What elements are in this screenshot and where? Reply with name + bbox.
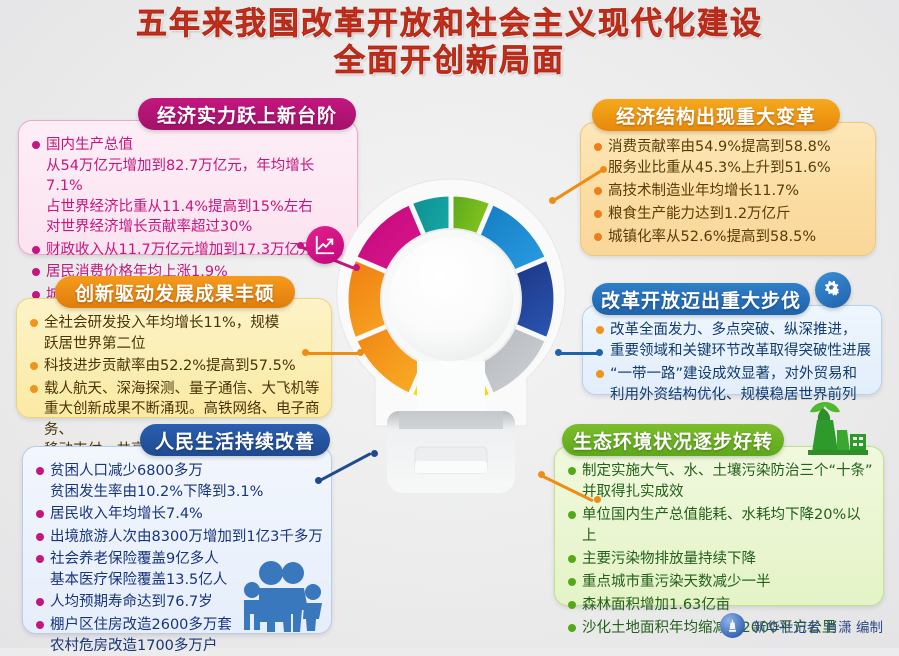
panel-heading-economic-structure: 经济结构出现重大变革 bbox=[592, 99, 840, 131]
list-item: 国内生产总值 从54万亿元增加到82.7万亿元，年均增长7.1% 占世界经济比重… bbox=[31, 135, 347, 238]
panel-body-reform: 改革全面发力、多点突破、纵深推进， 重要领域和关键环节改革取得突破性进展 “一带… bbox=[582, 305, 882, 395]
line: 跃居世界第二位 bbox=[44, 334, 323, 355]
panel-heading-economic-strength: 经济实力跃上新台阶 bbox=[138, 98, 356, 130]
line: 从54万亿元增加到82.7万亿元，年均增长7.1% bbox=[46, 156, 347, 197]
line: 主要污染物排放量持续下降 bbox=[582, 549, 875, 570]
line-chart-icon bbox=[306, 226, 344, 264]
line: 改革全面发力、多点突破、纵深推进， bbox=[610, 320, 873, 341]
line: 服务业比重从45.3%上升到51.6% bbox=[608, 158, 867, 179]
list-item: 粮食生产能力达到1.2万亿斤 bbox=[593, 204, 867, 225]
connector-dot-box4-a bbox=[549, 197, 556, 204]
list-item: 消费贡献率由54.9%提高到58.8% 服务业比重从45.3%上升到51.6% bbox=[593, 137, 867, 179]
family-icon bbox=[230, 558, 326, 636]
list-item: 重点城市重污染天数减少一半 bbox=[567, 572, 875, 593]
connector-dot-box5-b bbox=[596, 349, 603, 356]
panel-heading-livelihood: 人民生活持续改善 bbox=[140, 424, 330, 456]
line: 居民收入年均增长7.4% bbox=[50, 504, 323, 525]
list-item: 居民收入年均增长7.4% bbox=[35, 504, 323, 525]
line: 贫困人口减少6800多万 bbox=[50, 461, 323, 482]
list-item: 高技术制造业年均增长11.7% bbox=[593, 181, 867, 202]
connector-dot-box3-a bbox=[315, 477, 322, 484]
connector-dot-box1-b bbox=[353, 264, 360, 271]
page-title: 五年来我国改革开放和社会主义现代化建设 全面开创新局面 bbox=[0, 6, 899, 79]
line: 贫困发生率由10.2%下降到3.1% bbox=[50, 482, 323, 503]
panel-list-economic-structure: 消费贡献率由54.9%提高到58.8% 服务业比重从45.3%上升到51.6% … bbox=[593, 137, 867, 248]
list-item: 全社会研发投入年均增长11%，规模 跃居世界第二位 bbox=[29, 313, 323, 354]
gears-icon bbox=[815, 272, 851, 308]
title-line-2: 全面开创新局面 bbox=[0, 43, 899, 80]
line: 占世界经济比重从11.4%提高到15%左右 bbox=[46, 197, 347, 218]
panel-body-economic-structure: 消费贡献率由54.9%提高到58.8% 服务业比重从45.3%上升到51.6% … bbox=[580, 122, 876, 256]
line: 城镇化率从52.6%提高到58.5% bbox=[608, 227, 867, 248]
line: 重要领域和关键环节改革取得突破性进展 bbox=[610, 341, 873, 362]
panel-body-ecology: 制定实施大气、水、土壤污染防治三个“十条” 并取得扎实成效 单位国内生产总值能耗… bbox=[554, 446, 884, 606]
connector-dot-box3-b bbox=[371, 450, 378, 457]
connector-line-box2 bbox=[305, 352, 361, 355]
panel-heading-innovation: 创新驱动发展成果丰硕 bbox=[55, 276, 295, 308]
connector-dot-box6-a bbox=[538, 471, 545, 478]
line: 粮食生产能力达到1.2万亿斤 bbox=[608, 204, 867, 225]
line: 载人航天、深海探测、量子通信、大飞机等 bbox=[44, 379, 323, 400]
list-item: 城镇化率从52.6%提高到58.5% bbox=[593, 227, 867, 248]
panel-heading-reform: 改革开放迈出重大步伐 bbox=[592, 283, 810, 315]
line: 单位国内生产总值能耗、水耗均下降20%以上 bbox=[582, 505, 875, 547]
panel-body-innovation: 全社会研发投入年均增长11%，规模 跃居世界第二位 科技进步贡献率由52.2%提… bbox=[16, 298, 332, 418]
line: 高技术制造业年均增长11.7% bbox=[608, 181, 867, 202]
list-item: 制定实施大气、水、土壤污染防治三个“十条” 并取得扎实成效 bbox=[567, 461, 875, 503]
connector-dot-box5-a bbox=[555, 349, 562, 356]
line: 重点城市重污染天数减少一半 bbox=[582, 572, 875, 593]
eco-factory-icon bbox=[790, 398, 868, 462]
xinhua-logo bbox=[720, 613, 745, 638]
infographic-canvas: 五年来我国改革开放和社会主义现代化建设 全面开创新局面 bbox=[0, 0, 899, 648]
line: 出境旅游人次由8300万增加到1亿3千多万 bbox=[50, 527, 323, 548]
connector-dot-box4-b bbox=[600, 166, 607, 173]
line: 农村危房改造1700多万户 bbox=[50, 636, 323, 656]
line: “一带一路”建设成效显著，对外贸易和 bbox=[610, 364, 873, 385]
list-item: 单位国内生产总值能耗、水耗均下降20%以上 bbox=[567, 505, 875, 547]
title-line-1: 五年来我国改革开放和社会主义现代化建设 bbox=[0, 6, 899, 43]
line: 并取得扎实成效 bbox=[582, 482, 875, 503]
list-item: 出境旅游人次由8300万增加到1亿3千多万 bbox=[35, 527, 323, 548]
credit-text: 新华社记者 肖潇 编制 bbox=[753, 616, 883, 636]
line: 国内生产总值 bbox=[46, 135, 347, 156]
list-item: 贫困人口减少6800多万 贫困发生率由10.2%下降到3.1% bbox=[35, 461, 323, 502]
connector-line-box5 bbox=[558, 352, 600, 355]
list-item: 改革全面发力、多点突破、纵深推进， 重要领域和关键环节改革取得突破性进展 bbox=[595, 320, 873, 362]
connector-dot-box2-a bbox=[302, 349, 309, 356]
panel-heading-ecology: 生态环境状况逐步好转 bbox=[562, 424, 784, 456]
line: 制定实施大气、水、土壤污染防治三个“十条” bbox=[582, 461, 875, 482]
line: 科技进步贡献率由52.2%提高到57.5% bbox=[44, 356, 323, 377]
connector-dot-box2-b bbox=[357, 349, 364, 356]
connector-dot-box6-b bbox=[594, 496, 601, 503]
line: 消费贡献率由54.9%提高到58.8% bbox=[608, 137, 867, 158]
list-item: 科技进步贡献率由52.2%提高到57.5% bbox=[29, 356, 323, 377]
line: 对世界经济增长贡献率超过30% bbox=[46, 217, 347, 238]
connector-dot-box1-a bbox=[297, 242, 304, 249]
panel-list-reform: 改革全面发力、多点突破、纵深推进， 重要领域和关键环节改革取得突破性进展 “一带… bbox=[595, 320, 873, 406]
line: 全社会研发投入年均增长11%，规模 bbox=[44, 313, 323, 334]
credit-line: 新华社记者 肖潇 编制 bbox=[720, 613, 883, 638]
list-item: 主要污染物排放量持续下降 bbox=[567, 549, 875, 570]
panel-body-economic-strength: 国内生产总值 从54万亿元增加到82.7万亿元，年均增长7.1% 占世界经济比重… bbox=[18, 120, 358, 255]
